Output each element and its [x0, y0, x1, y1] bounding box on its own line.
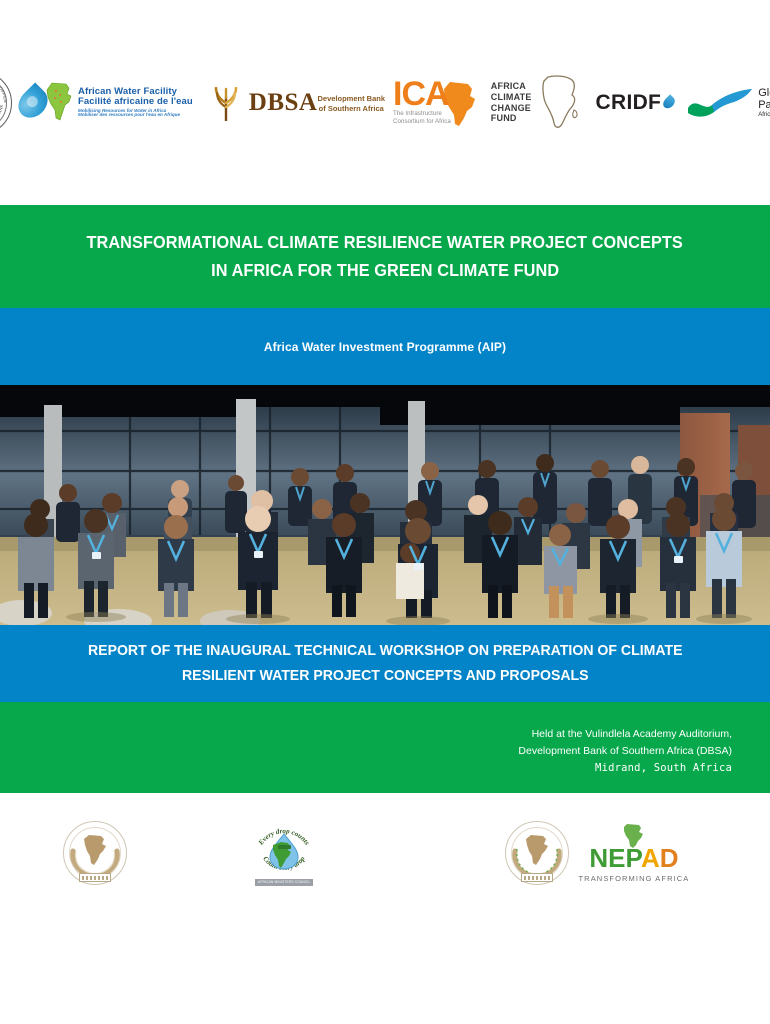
logo-ica: ICA The Infrastructure Consortium for Af…: [393, 79, 481, 127]
afdb-ring-text: BANQUE AFRICAINE DE DEVELOPPEMENT AFRICA…: [0, 71, 12, 135]
logo-africa-climate-change-fund: AFRICA CLIMATE CHANGE FUND: [491, 74, 586, 132]
programme-label: Africa Water Investment Programme (AIP): [264, 340, 506, 354]
logo-african-union: [0, 821, 190, 885]
cridf-wordmark: CRIDF: [596, 91, 662, 115]
accf-line2: CLIMATE: [491, 92, 532, 103]
accf-line4: FUND: [491, 113, 532, 124]
gwp-line1: Global Water: [758, 87, 770, 99]
main-title-line-1: TRANSFORMATIONAL CLIMATE RESILIENCE WATE…: [87, 229, 683, 256]
dbsa-sub2: of Southern Africa: [317, 104, 385, 113]
logo-dbsa: DBSA Development Bank of Southern Africa: [203, 87, 385, 119]
africa-map-icon: [80, 834, 110, 866]
africa-outline-icon: [534, 74, 586, 132]
group-photo: [0, 385, 770, 625]
amcow-drop-globe-icon: Every drop counts Count every drop: [253, 820, 315, 880]
logo-african-water-facility: African Water Facility Facilité africain…: [20, 79, 193, 127]
ica-letters: ICA: [393, 79, 451, 110]
logo-amcow: Every drop counts Count every drop AFRIC…: [190, 820, 380, 886]
top-logo-strip: BANQUE AFRICAINE DE DEVELOPPEMENT AFRICA…: [0, 0, 770, 205]
dbsa-sub1: Development Bank: [317, 94, 385, 103]
group-photo-illustration: [0, 385, 770, 625]
venue-band: Held at the Vulindlela Academy Auditoriu…: [0, 702, 770, 793]
africa-map-icon: [42, 82, 76, 122]
wheat-sheaf-icon: [203, 87, 249, 121]
accf-line1: AFRICA: [491, 81, 532, 92]
gwp-line3: Africa: [758, 112, 770, 119]
amcow-strip-label: AFRICAN MINISTERS COUNCIL ON WATER: [255, 879, 313, 886]
ica-sub2: Consortium for Africa: [393, 118, 451, 126]
report-cover-page: BANQUE AFRICAINE DE DEVELOPPEMENT AFRICA…: [0, 0, 770, 1024]
report-title-line-2: RESILIENT WATER PROJECT CONCEPTS AND PRO…: [182, 664, 589, 688]
logo-global-water-partnership: Global Water Partnership Africa: [686, 86, 770, 120]
nepad-tagline: TRANSFORMING AFRICA: [579, 874, 690, 883]
bottom-logo-strip: Every drop counts Count every drop AFRIC…: [0, 793, 770, 1024]
awf-line4: Mobiliser des ressources pour l'eau en A…: [78, 113, 193, 118]
gwp-line2: Partnership: [758, 99, 770, 111]
dbsa-wordmark: DBSA: [249, 90, 318, 115]
main-title-line-2: IN AFRICA FOR THE GREEN CLIMATE FUND: [211, 257, 559, 284]
venue-line-3: Midrand, South Africa: [518, 760, 732, 777]
main-title-band: TRANSFORMATIONAL CLIMATE RESILIENCE WATE…: [0, 205, 770, 308]
svg-text:BANQUE AFRICAINE DE DEVELOPPEM: BANQUE AFRICAINE DE DEVELOPPEMENT: [0, 71, 8, 103]
venue-details: Held at the Vulindlela Academy Auditoriu…: [518, 726, 732, 793]
africa-map-icon: [522, 834, 552, 866]
venue-line-2: Development Bank of Southern Africa (DBS…: [518, 743, 732, 760]
accf-line3: CHANGE: [491, 103, 532, 114]
logo-african-union-nepad: [379, 821, 579, 885]
report-title-band: REPORT OF THE INAUGURAL TECHNICAL WORKSH…: [0, 625, 770, 702]
logo-nepad: NEPAD TRANSFORMING AFRICA: [579, 823, 770, 883]
report-title-line-1: REPORT OF THE INAUGURAL TECHNICAL WORKSH…: [88, 639, 683, 663]
logo-african-development-bank: BANQUE AFRICAINE DE DEVELOPPEMENT AFRICA…: [0, 71, 20, 135]
logo-cridf: CRIDF: [596, 91, 675, 115]
programme-band: Africa Water Investment Programme (AIP): [0, 308, 770, 385]
svg-text:AFRICAN DEVELOPMENT BANK: AFRICAN DEVELOPMENT BANK: [0, 104, 4, 127]
gwp-wave-icon: [686, 86, 754, 120]
venue-line-1: Held at the Vulindlela Academy Auditoriu…: [518, 726, 732, 743]
nepad-wordmark: NEPAD: [589, 845, 678, 871]
awf-line2: Facilité africaine de l'eau: [78, 97, 193, 107]
water-drop-icon: [661, 94, 677, 110]
